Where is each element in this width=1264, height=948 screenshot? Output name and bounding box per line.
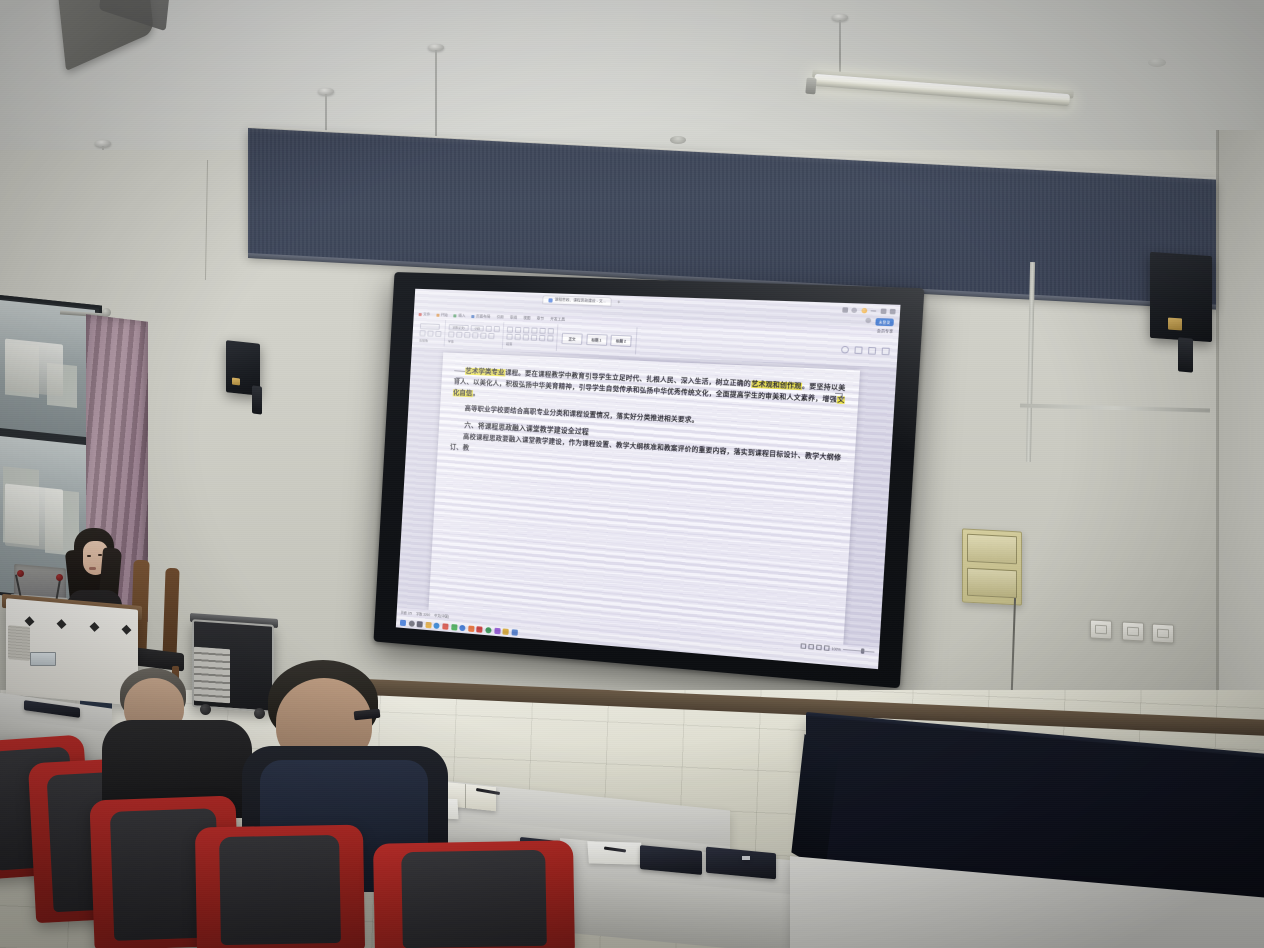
lectern-knob[interactable]: [25, 616, 35, 626]
chair-back-right-post: [162, 568, 179, 660]
chair-4[interactable]: [195, 825, 365, 948]
microphone-head[interactable]: [17, 570, 24, 577]
grow-font-icon[interactable]: [486, 325, 492, 331]
notebook-clasp: [742, 856, 750, 860]
home-icon: [436, 313, 439, 316]
paper-sheet[interactable]: [587, 841, 642, 865]
outline-view-icon[interactable]: [808, 644, 814, 650]
style-normal[interactable]: 正文: [561, 332, 582, 344]
ribbon-group-paragraph[interactable]: 段落: [503, 322, 559, 351]
edge-icon[interactable]: [434, 622, 440, 629]
menu-item-insert[interactable]: 插入: [454, 313, 466, 318]
control-panel-upper: [967, 534, 1017, 565]
equipment-cart-label: [30, 652, 56, 666]
display-panel[interactable]: 课程思政、课程思政建设 - 文... +: [396, 289, 901, 669]
para1-dash: ——: [454, 367, 465, 375]
margin-mark-top-left: [455, 377, 462, 384]
menu-label: 开始: [441, 312, 448, 317]
page-view-icon[interactable]: [800, 643, 806, 649]
style-heading-1[interactable]: 标题 1: [586, 333, 607, 345]
restore-icon[interactable]: [842, 307, 848, 313]
document-tab[interactable]: 课程思政、课程思政建设 - 文...: [542, 295, 612, 307]
shrink-font-icon[interactable]: [494, 325, 500, 331]
speaker-plate: [232, 378, 240, 386]
font-size-input[interactable]: 小四: [471, 325, 484, 332]
ribbon-group-label: 段落: [506, 341, 553, 347]
numbering-icon[interactable]: [515, 326, 521, 332]
microphone-head[interactable]: [56, 574, 63, 581]
align-center-icon[interactable]: [514, 334, 520, 340]
menu-item-member[interactable]: 会员专享: [877, 328, 894, 334]
window-pane-upper: [0, 300, 95, 438]
building-outside: [5, 342, 39, 398]
document-icon: [548, 298, 552, 302]
account-icon[interactable]: [861, 308, 867, 314]
music-icon[interactable]: [494, 627, 500, 634]
wechat-icon[interactable]: [451, 624, 457, 631]
menu-label: 页面布局: [476, 314, 491, 320]
highlight-color-icon[interactable]: [480, 333, 486, 339]
lectern-knob[interactable]: [122, 625, 132, 635]
bullets-icon[interactable]: [507, 326, 513, 332]
video-icon[interactable]: [503, 628, 509, 635]
cut-icon[interactable]: [419, 330, 425, 336]
start-icon[interactable]: [400, 619, 406, 626]
multilevel-list-icon[interactable]: [523, 327, 529, 333]
replace-icon[interactable]: [854, 346, 862, 354]
insert-icon: [454, 314, 457, 317]
sprinkler-head: [670, 136, 686, 144]
chair-cushion: [401, 850, 547, 948]
display-bezel: 课程思政、课程思政建设 - 文... +: [373, 272, 924, 688]
chrome-icon[interactable]: [485, 626, 491, 633]
menu-item-home[interactable]: 开始: [436, 312, 448, 317]
light-switch-1[interactable]: [1090, 619, 1112, 639]
decrease-indent-icon[interactable]: [531, 327, 537, 333]
lectern-knob[interactable]: [57, 619, 67, 629]
menu-item-file[interactable]: 文件: [419, 312, 431, 317]
zoom-slider-knob[interactable]: [861, 648, 865, 653]
wall-display[interactable]: 课程思政、课程思政建设 - 文... +: [384, 272, 884, 642]
layout-icon: [471, 314, 474, 317]
help-icon[interactable]: [865, 318, 871, 324]
ribbon-group-font[interactable]: 宋体(正文) 小四: [445, 320, 505, 349]
presenter-mouth: [89, 567, 96, 570]
paste-icon[interactable]: [420, 323, 440, 330]
speaker-bracket: [252, 385, 262, 414]
margin-mark-top-right: [835, 393, 843, 401]
ribbon-group-label: 字体: [448, 339, 499, 345]
document-canvas[interactable]: ——艺术学类专业课程。要在课程教学中教育引导学生立足时代、扎根人民、深入生活，树…: [397, 348, 897, 648]
ribbon-group-find[interactable]: [840, 335, 894, 365]
para1-text-3: 。: [473, 390, 480, 397]
ribbon-group-clipboard[interactable]: 剪贴板: [416, 319, 446, 346]
web-layout-icon[interactable]: [824, 645, 830, 651]
new-tab-button[interactable]: +: [615, 299, 623, 305]
para1-highlight-2: 艺术观和创作观: [751, 380, 803, 390]
italic-icon[interactable]: [456, 332, 462, 338]
explorer-icon[interactable]: [425, 621, 431, 628]
menu-item-reference[interactable]: 引用: [496, 314, 504, 319]
menu-label: 插入: [458, 313, 465, 318]
menu-item-review[interactable]: 审阅: [510, 315, 518, 320]
align-right-icon[interactable]: [523, 334, 529, 340]
maximize-icon[interactable]: [880, 308, 886, 314]
menu-item-view[interactable]: 视图: [523, 315, 531, 320]
format-painter-icon[interactable]: [435, 331, 441, 337]
control-panel-lower: [967, 568, 1017, 599]
ceiling-fitting: [1148, 58, 1166, 67]
light-bracket: [805, 78, 816, 95]
find-icon[interactable]: [841, 345, 849, 353]
tab-label: 课程思政、课程思政建设 - 文...: [555, 297, 606, 304]
zoom-slider-track[interactable]: [843, 649, 875, 653]
right-wall-column: [1218, 130, 1264, 690]
window-controls[interactable]: [842, 307, 896, 314]
font-color-icon[interactable]: [488, 333, 494, 339]
search-icon[interactable]: [408, 620, 414, 627]
word-count: 字数 3260: [416, 611, 430, 617]
speaker-plate: [1168, 318, 1182, 331]
ribbon-group-label: 剪贴板: [419, 338, 441, 343]
align-left-icon[interactable]: [506, 334, 512, 340]
bold-icon[interactable]: [448, 331, 454, 337]
login-badge[interactable]: 未登录: [875, 318, 894, 326]
mail-icon[interactable]: [442, 623, 448, 630]
language-indicator[interactable]: 中文(中国): [434, 612, 449, 618]
wall-control-panel[interactable]: [962, 528, 1022, 605]
underline-icon[interactable]: [464, 332, 470, 338]
doc-assistant-icon[interactable]: [881, 347, 889, 355]
folder-icon[interactable]: [511, 629, 517, 636]
read-layout-icon[interactable]: [816, 645, 822, 651]
wps-icon[interactable]: [477, 626, 483, 633]
menu-item-section[interactable]: 章节: [537, 316, 545, 321]
increase-indent-icon[interactable]: [539, 327, 546, 333]
building-outside: [47, 363, 77, 408]
menu-item-devtools[interactable]: 开发工具: [550, 316, 565, 322]
speaker-bracket: [1178, 337, 1193, 372]
document-page[interactable]: ——艺术学类专业课程。要在课程教学中教育引导学生立足时代、扎根人民、深入生活，树…: [429, 352, 861, 644]
taskview-icon[interactable]: [417, 621, 423, 628]
para1-highlight-1: 艺术学类专业: [465, 368, 506, 377]
classroom-photo: 课程思政、课程思政建设 - 文... +: [0, 0, 1264, 948]
line-spacing-icon[interactable]: [539, 335, 546, 341]
lectern-speaker-grille: [8, 625, 30, 661]
menu-label: 文件: [423, 312, 430, 317]
file-icon: [419, 313, 422, 316]
select-icon[interactable]: [868, 346, 876, 354]
shading-icon[interactable]: [547, 335, 554, 341]
presenter-eye: [87, 555, 91, 557]
settings-icon[interactable]: [851, 308, 857, 314]
zoom-level: 100%: [831, 646, 840, 651]
chair-cushion: [219, 835, 342, 945]
light-switch-2[interactable]: [1122, 621, 1144, 641]
qq-icon[interactable]: [459, 624, 465, 631]
attendee-2-glasses: [354, 709, 381, 721]
style-heading-2[interactable]: 标题 2: [610, 334, 632, 346]
chair-5[interactable]: [373, 840, 575, 948]
minimize-icon[interactable]: [871, 310, 877, 312]
building-outside: [3, 466, 39, 546]
dingtalk-icon[interactable]: [468, 625, 474, 632]
document-application[interactable]: 课程思政、课程思政建设 - 文... +: [396, 289, 901, 669]
close-icon[interactable]: [890, 309, 896, 315]
menu-item-pagelayout[interactable]: 页面布局: [471, 313, 490, 319]
copy-icon[interactable]: [427, 331, 433, 337]
font-name-input[interactable]: 宋体(正文): [449, 324, 469, 331]
strikethrough-icon[interactable]: [472, 332, 478, 338]
light-switch-3[interactable]: [1152, 623, 1174, 643]
lectern-knob[interactable]: [89, 622, 99, 632]
sort-icon[interactable]: [548, 328, 555, 334]
ribbon-group-styles[interactable]: 正文 标题 1 标题 2: [557, 324, 638, 354]
justify-icon[interactable]: [531, 335, 537, 341]
page-info: 页面 2/9: [400, 610, 412, 616]
